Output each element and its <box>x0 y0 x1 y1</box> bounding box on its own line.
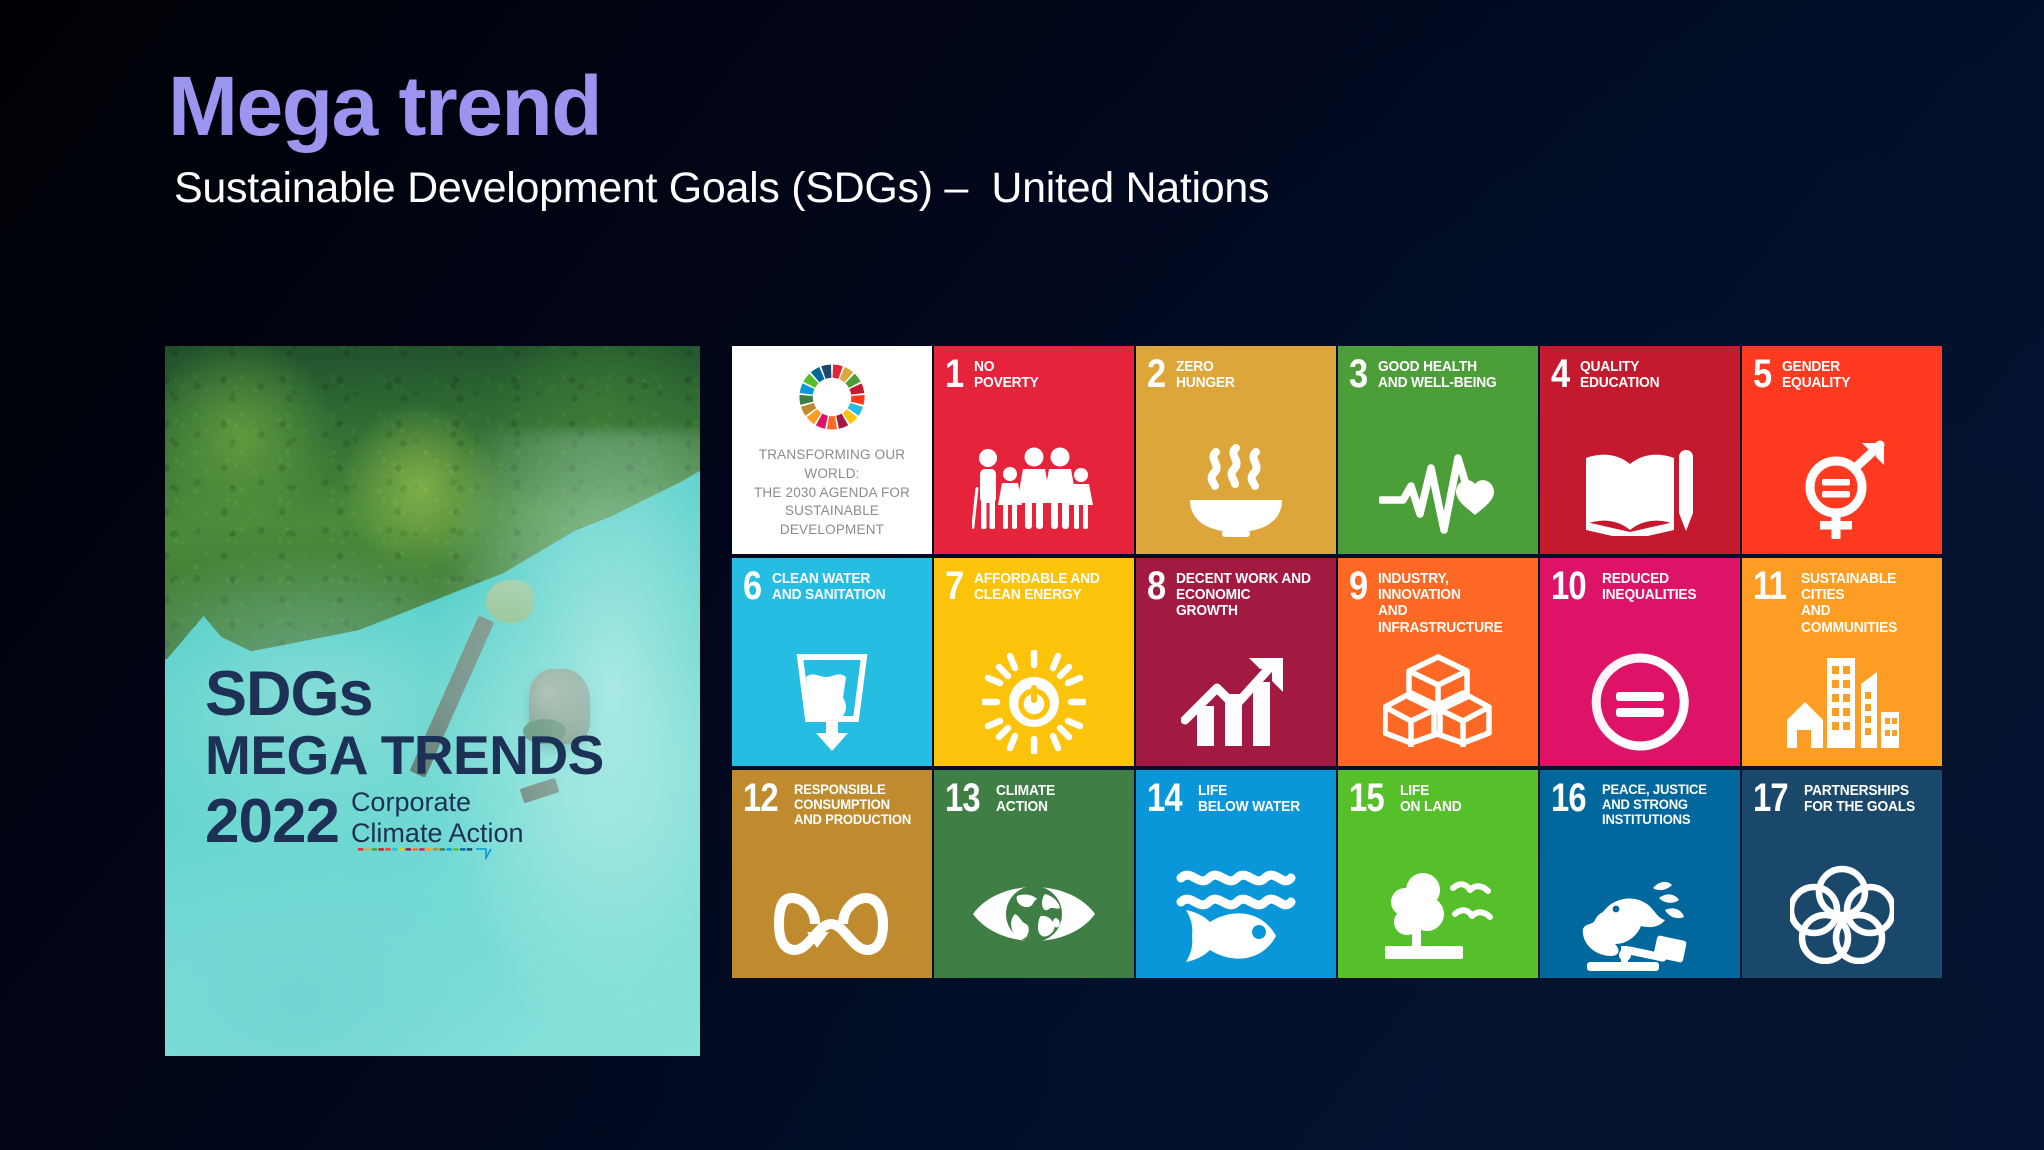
tile-header: 3GOOD HEALTH AND WELL-BEING <box>1349 358 1530 391</box>
goal-label: CLIMATE ACTION <box>996 782 1055 815</box>
goal-label: PARTNERSHIPS FOR THE GOALS <box>1804 782 1915 815</box>
goal-number: 15 <box>1349 782 1384 815</box>
interlocking-circles-icon <box>1742 862 1942 966</box>
sdg-tile-10[interactable]: 10REDUCED INEQUALITIES <box>1540 558 1740 766</box>
tile-header: 15LIFE ON LAND <box>1349 782 1530 815</box>
intro-tile-text: TRANSFORMING OUR WORLD: THE 2030 AGENDA … <box>754 446 910 539</box>
goal-number: 17 <box>1753 782 1788 815</box>
tile-header: 4QUALITY EDUCATION <box>1551 358 1732 391</box>
goal-number: 14 <box>1147 782 1182 815</box>
tile-header: 17PARTNERSHIPS FOR THE GOALS <box>1753 782 1934 815</box>
cover-title-block: SDGs MEGA TRENDS 2022 Corporate Climate … <box>205 664 604 852</box>
sdg-tile-1[interactable]: 1NO POVERTY <box>934 346 1134 554</box>
goal-number: 4 <box>1551 358 1569 391</box>
goal-label: GENDER EQUALITY <box>1782 358 1850 391</box>
sdg-tile-8[interactable]: 8DECENT WORK AND ECONOMIC GROWTH <box>1136 558 1336 766</box>
goal-label: NO POVERTY <box>974 358 1039 391</box>
water-glass-arrow-icon <box>732 650 932 754</box>
tile-header: 13CLIMATE ACTION <box>945 782 1126 815</box>
tile-header: 2ZERO HUNGER <box>1147 358 1328 391</box>
tile-header: 8DECENT WORK AND ECONOMIC GROWTH <box>1147 570 1328 620</box>
goal-label: RESPONSIBLE CONSUMPTION AND PRODUCTION <box>794 782 911 828</box>
heartbeat-line-icon <box>1338 438 1538 542</box>
goal-label: SUSTAINABLE CITIES AND COMMUNITIES <box>1801 570 1923 636</box>
sdg-mega-trends-cover-image: SDGs MEGA TRENDS 2022 Corporate Climate … <box>165 346 700 1056</box>
steaming-bowl-icon <box>1136 438 1336 542</box>
sdg-tile-4[interactable]: 4QUALITY EDUCATION <box>1540 346 1740 554</box>
goal-number: 3 <box>1349 358 1367 391</box>
fish-waves-icon <box>1136 862 1336 966</box>
goal-label: QUALITY EDUCATION <box>1580 358 1659 391</box>
city-buildings-icon <box>1742 650 1942 754</box>
sun-power-icon <box>934 650 1134 754</box>
sdg-tile-3[interactable]: 3GOOD HEALTH AND WELL-BEING <box>1338 346 1538 554</box>
tile-header: 5GENDER EQUALITY <box>1753 358 1934 391</box>
sdg-color-rule <box>358 846 503 860</box>
tile-header: 7AFFORDABLE AND CLEAN ENERGY <box>945 570 1126 603</box>
goal-number: 16 <box>1551 782 1586 815</box>
goal-number: 11 <box>1753 570 1786 603</box>
tile-header: 1NO POVERTY <box>945 358 1126 391</box>
goal-number: 1 <box>945 358 963 391</box>
eye-globe-icon <box>934 862 1134 966</box>
goal-label: AFFORDABLE AND CLEAN ENERGY <box>974 570 1100 603</box>
tile-header: 10REDUCED INEQUALITIES <box>1551 570 1732 603</box>
goal-number: 9 <box>1349 570 1367 603</box>
tile-header: 11SUSTAINABLE CITIES AND COMMUNITIES <box>1753 570 1934 636</box>
goal-label: LIFE BELOW WATER <box>1198 782 1300 815</box>
sdg-tile-16[interactable]: 16PEACE, JUSTICE AND STRONG INSTITUTIONS <box>1540 770 1740 978</box>
goal-label: PEACE, JUSTICE AND STRONG INSTITUTIONS <box>1602 782 1707 828</box>
goal-number: 7 <box>945 570 963 603</box>
page-subtitle: Sustainable Development Goals (SDGs) – U… <box>174 164 1269 213</box>
tree-birds-icon <box>1338 862 1538 966</box>
tile-header: 16PEACE, JUSTICE AND STRONG INSTITUTIONS <box>1551 782 1732 828</box>
family-group-icon <box>934 438 1134 542</box>
tile-header: 14LIFE BELOW WATER <box>1147 782 1328 815</box>
sdg-tile-11[interactable]: 11SUSTAINABLE CITIES AND COMMUNITIES <box>1742 558 1942 766</box>
sdg-tile-2[interactable]: 2ZERO HUNGER <box>1136 346 1336 554</box>
sdg-tile-12[interactable]: 12RESPONSIBLE CONSUMPTION AND PRODUCTION <box>732 770 932 978</box>
equals-circle-icon <box>1540 650 1740 754</box>
sdg-tile-17[interactable]: 17PARTNERSHIPS FOR THE GOALS <box>1742 770 1942 978</box>
tile-header: 6CLEAN WATER AND SANITATION <box>743 570 924 603</box>
stacked-cubes-icon <box>1338 650 1538 754</box>
cover-subtitle: Corporate Climate Action <box>351 787 524 847</box>
goal-number: 10 <box>1551 570 1586 603</box>
sdg-color-wheel-icon <box>795 360 869 434</box>
sdg-tile-6[interactable]: 6CLEAN WATER AND SANITATION <box>732 558 932 766</box>
sdg-tile-13[interactable]: 13CLIMATE ACTION <box>934 770 1134 978</box>
goal-label: REDUCED INEQUALITIES <box>1602 570 1696 603</box>
goal-number: 8 <box>1147 570 1165 603</box>
tile-transforming-our-world[interactable]: TRANSFORMING OUR WORLD: THE 2030 AGENDA … <box>732 346 932 554</box>
goal-label: ZERO HUNGER <box>1176 358 1235 391</box>
goal-label: INDUSTRY, INNOVATION AND INFRASTRUCTURE <box>1378 570 1518 636</box>
goal-number: 13 <box>945 782 980 815</box>
goal-label: DECENT WORK AND ECONOMIC GROWTH <box>1176 570 1316 620</box>
gender-equals-icon <box>1742 438 1942 542</box>
goal-label: LIFE ON LAND <box>1400 782 1462 815</box>
goal-label: CLEAN WATER AND SANITATION <box>772 570 885 603</box>
cover-title-sdgs: SDGs <box>205 664 604 724</box>
open-book-pencil-icon <box>1540 438 1740 542</box>
dove-gavel-icon <box>1540 878 1740 970</box>
goal-number: 12 <box>743 782 778 815</box>
header: Mega trend Sustainable Development Goals… <box>168 62 1269 213</box>
tile-header: 9INDUSTRY, INNOVATION AND INFRASTRUCTURE <box>1349 570 1530 636</box>
slide-canvas: Mega trend Sustainable Development Goals… <box>0 0 2044 1150</box>
sdg-tile-7[interactable]: 7AFFORDABLE AND CLEAN ENERGY <box>934 558 1134 766</box>
goal-number: 5 <box>1753 358 1771 391</box>
cover-year: 2022 <box>205 793 339 852</box>
sdg-tile-15[interactable]: 15LIFE ON LAND <box>1338 770 1538 978</box>
cover-title-mega-trends: MEGA TRENDS <box>205 728 604 783</box>
growth-chart-arrow-icon <box>1136 650 1336 754</box>
sdg-goal-grid: TRANSFORMING OUR WORLD: THE 2030 AGENDA … <box>732 346 1942 978</box>
infinity-loop-icon <box>732 878 932 970</box>
sdg-tile-14[interactable]: 14LIFE BELOW WATER <box>1136 770 1336 978</box>
sdg-tile-9[interactable]: 9INDUSTRY, INNOVATION AND INFRASTRUCTURE <box>1338 558 1538 766</box>
page-title: Mega trend <box>168 62 1269 150</box>
sdg-tile-5[interactable]: 5GENDER EQUALITY <box>1742 346 1942 554</box>
goal-number: 6 <box>743 570 761 603</box>
goal-number: 2 <box>1147 358 1165 391</box>
goal-label: GOOD HEALTH AND WELL-BEING <box>1378 358 1497 391</box>
tile-header: 12RESPONSIBLE CONSUMPTION AND PRODUCTION <box>743 782 924 828</box>
